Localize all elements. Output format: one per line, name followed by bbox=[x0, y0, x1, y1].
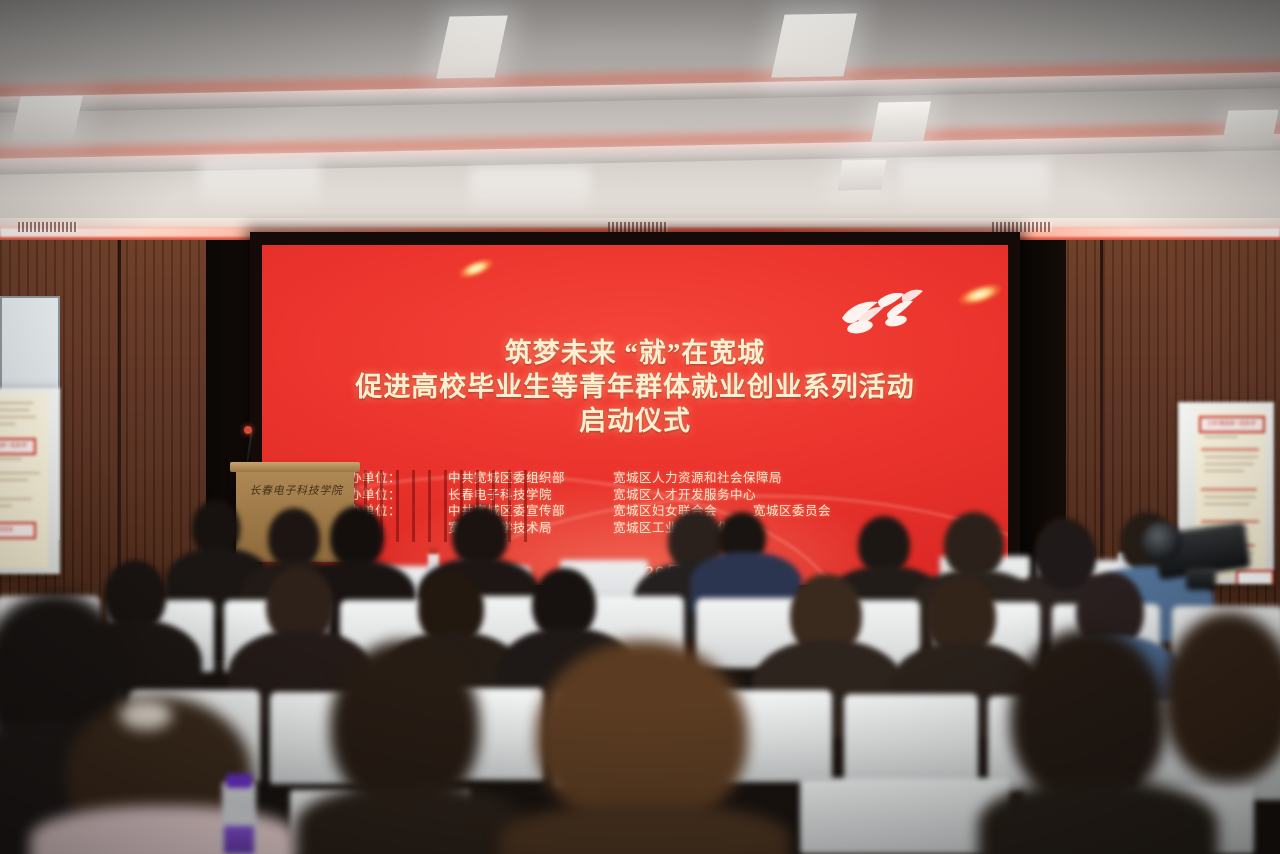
poster-header-left: 工作“两清单一任务书” bbox=[0, 438, 36, 455]
water-bottle-label bbox=[224, 826, 254, 854]
hair-tie bbox=[120, 700, 172, 730]
organizer-name: 宽城区人力资源和社会保障局 bbox=[613, 470, 782, 487]
ceiling-light-panel bbox=[771, 13, 857, 77]
podium-nameplate: 长春电子科技学院 bbox=[246, 482, 346, 498]
video-camera-grip bbox=[1186, 568, 1216, 590]
ceiling-light-panel bbox=[436, 15, 507, 78]
organizer-name: 宽城区委员会 bbox=[753, 503, 831, 520]
audience-head bbox=[452, 506, 508, 566]
dove-icon bbox=[824, 278, 934, 342]
foreground-shoulders bbox=[500, 804, 790, 854]
poster-badge-text: 重点任务 bbox=[0, 526, 34, 533]
audience-head bbox=[268, 508, 320, 568]
water-bottle-cap bbox=[226, 774, 252, 788]
foreground-head bbox=[1164, 612, 1280, 782]
foreground-shoulders bbox=[978, 780, 1218, 854]
screen-light-flare bbox=[457, 255, 496, 282]
poster-badge-left: 重点任务 bbox=[0, 522, 36, 539]
video-camera-lens bbox=[1142, 522, 1182, 562]
podium-top bbox=[230, 462, 360, 472]
organizer-name: 宽城区人才开发服务中心 bbox=[613, 487, 756, 504]
poster-header-right: 工作“两清单一任务书” bbox=[1199, 416, 1265, 433]
ceiling-light-panel bbox=[11, 95, 83, 140]
audience-head bbox=[944, 512, 1004, 578]
camera-operator-head bbox=[1036, 524, 1096, 590]
foreground-shoulders bbox=[296, 784, 526, 854]
title-line-3: 启动仪式 bbox=[262, 404, 1008, 438]
poster-badge-right bbox=[1236, 570, 1274, 584]
chair bbox=[844, 694, 978, 788]
foreground-shoulders bbox=[30, 806, 300, 854]
soffit-vent bbox=[608, 222, 668, 232]
soffit-vent bbox=[18, 222, 78, 232]
ceiling-light-panel bbox=[1221, 110, 1278, 147]
microphone-icon bbox=[244, 426, 252, 434]
poster-body: 工作“两清单一任务书” 重点任务 bbox=[0, 394, 48, 568]
water-bottle-cap bbox=[428, 548, 439, 554]
title-line-1: 筑梦未来 “就”在宽城 bbox=[262, 336, 1008, 370]
title-line-2: 促进高校毕业生等青年群体就业创业系列活动 bbox=[262, 370, 1008, 404]
poster-header-text: 工作“两清单一任务书” bbox=[1201, 420, 1263, 427]
ceiling-light-panel bbox=[871, 102, 931, 143]
soffit-vent bbox=[992, 222, 1052, 232]
audience-head bbox=[330, 506, 384, 568]
screen-title: 筑梦未来 “就”在宽城 促进高校毕业生等青年群体就业创业系列活动 启动仪式 bbox=[262, 336, 1008, 438]
poster-left: 工作“两清单一任务书” 重点任务 bbox=[0, 388, 60, 574]
ceiling bbox=[0, 0, 1280, 232]
foreground-head bbox=[536, 640, 748, 828]
ceiling-light-panel bbox=[838, 160, 887, 191]
poster-header-text: 工作“两清单一任务书” bbox=[0, 442, 34, 449]
photo-scene: 筑梦未来 “就”在宽城 促进高校毕业生等青年群体就业创业系列活动 启动仪式 主办… bbox=[0, 0, 1280, 854]
